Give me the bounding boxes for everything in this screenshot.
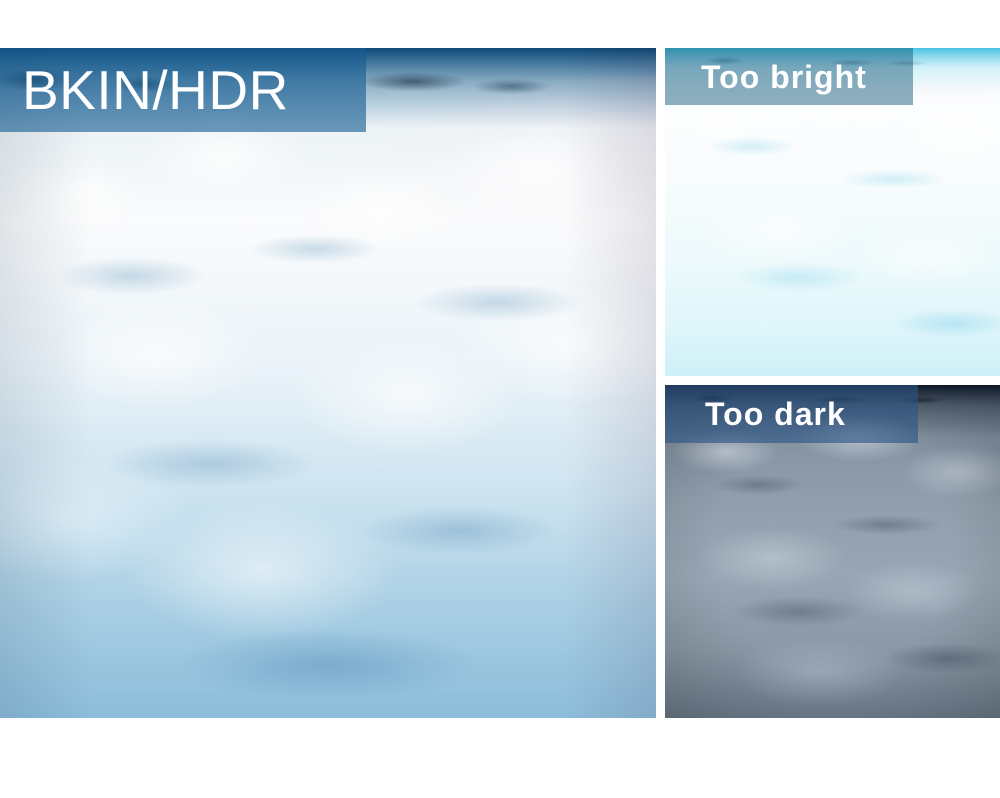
label-badge-too-bright: Too bright (665, 48, 913, 105)
label-badge-main: BKIN/HDR (0, 48, 366, 132)
comparison-collage: BKIN/HDR Too bright Too dark (0, 0, 1000, 798)
photo-panel-main[interactable] (0, 48, 656, 718)
label-badge-too-dark: Too dark (665, 385, 918, 443)
vignette-layer (0, 48, 656, 718)
